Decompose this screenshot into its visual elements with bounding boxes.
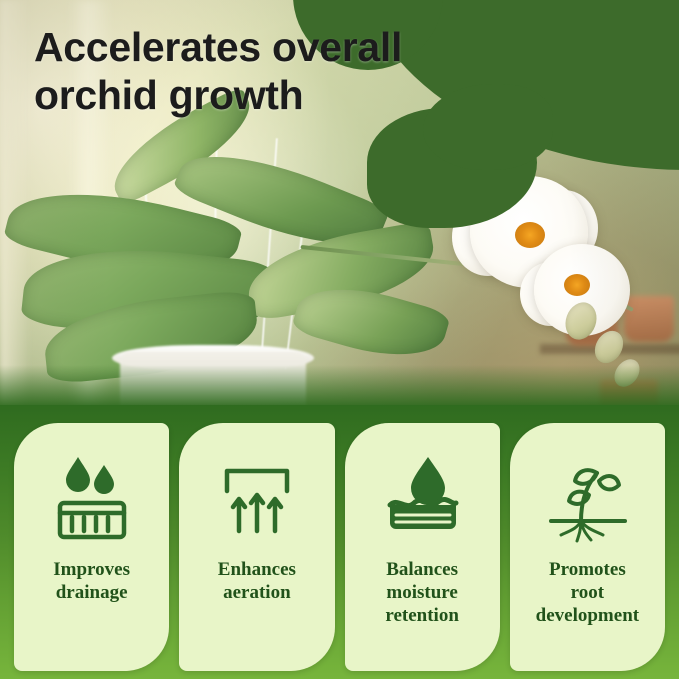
orchid-flower-center: [564, 274, 590, 296]
feature-card-label: Enhances aeration: [210, 559, 304, 605]
feature-card-improves-drainage: Improves drainage: [14, 423, 169, 671]
label-line: Promotes: [536, 559, 639, 582]
band-fade: [0, 365, 679, 405]
air-flow-aeration-icon: [205, 445, 309, 549]
headline-line-2: orchid growth: [34, 72, 594, 120]
label-line: development: [536, 605, 639, 628]
feature-card-label: Promotes root development: [528, 559, 647, 627]
plant-root-growth-icon: [535, 445, 639, 549]
feature-card-enhances-aeration: Enhances aeration: [179, 423, 334, 671]
orchid-flower-center: [515, 222, 545, 248]
headline-line-1: Accelerates overall: [34, 24, 594, 72]
label-line: moisture: [385, 582, 459, 605]
soil-moisture-droplet-icon: [370, 445, 474, 549]
background-pot-2: [624, 296, 674, 342]
label-line: drainage: [53, 582, 130, 605]
water-droplets-drainage-icon: [40, 445, 144, 549]
label-line: aeration: [218, 582, 296, 605]
label-line: Enhances: [218, 559, 296, 582]
page-title: Accelerates overall orchid growth: [34, 24, 594, 120]
feature-card-label: Improves drainage: [45, 559, 138, 605]
label-line: Balances: [385, 559, 459, 582]
feature-card-promotes-root-development: Promotes root development: [510, 423, 665, 671]
feature-card-label: Balances moisture retention: [377, 559, 467, 627]
feature-card-list: Improves drainage Enhances aeration: [0, 423, 679, 671]
product-infographic-image: Accelerates overall orchid growth Improv…: [0, 0, 679, 679]
label-line: retention: [385, 605, 459, 628]
label-line: Improves: [53, 559, 130, 582]
feature-card-balances-moisture: Balances moisture retention: [345, 423, 500, 671]
label-line: root: [536, 582, 639, 605]
